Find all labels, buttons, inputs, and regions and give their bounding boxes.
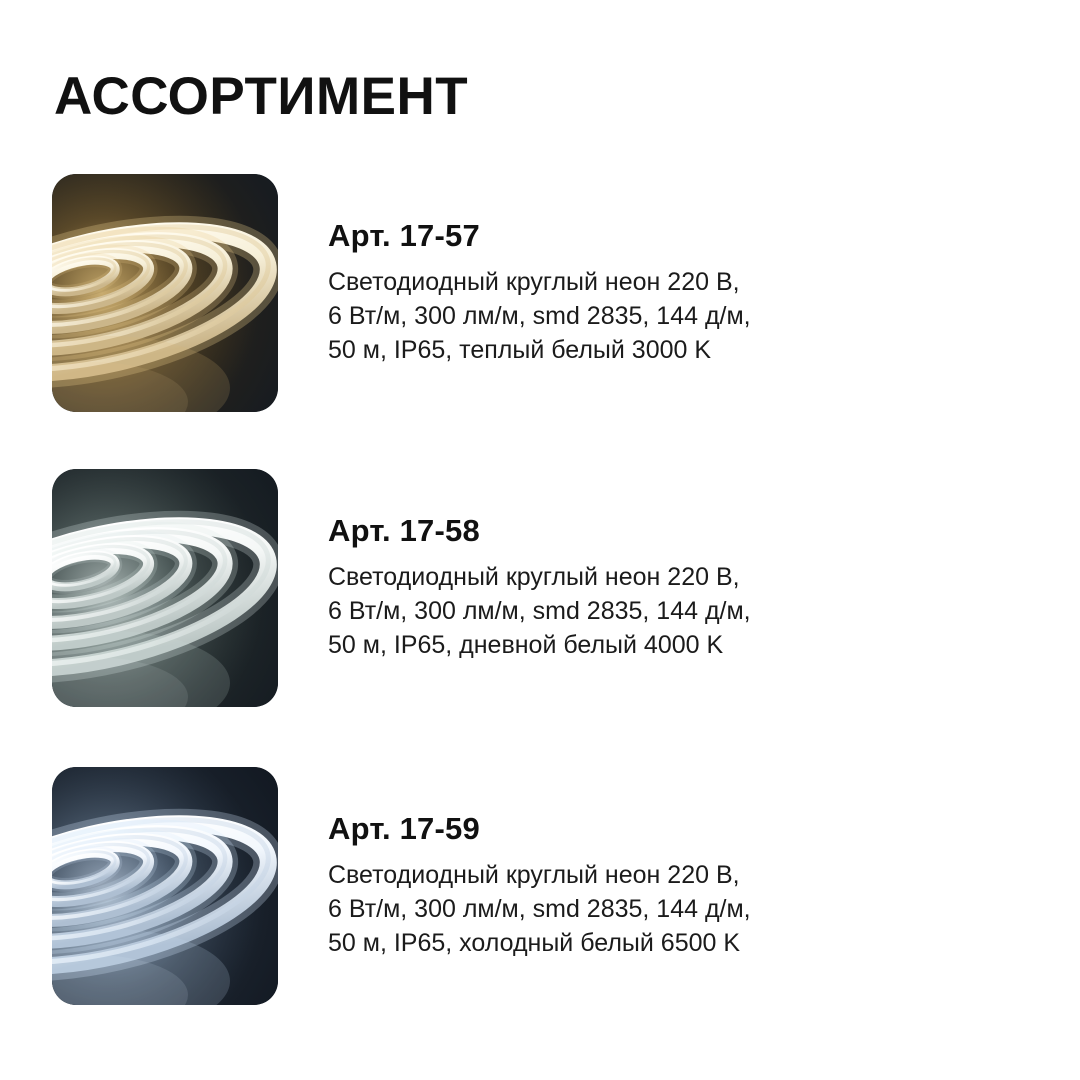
product-article: Арт. 17-59 [328,812,948,846]
description-line: 6 Вт/м, 300 лм/м, smd 2835, 144 д/м, [328,594,948,628]
product-row[interactable]: Арт. 17-59 Светодиодный круглый неон 220… [0,767,1080,1007]
description-line: 50 м, IP65, дневной белый 4000 K [328,628,948,662]
product-row[interactable]: Арт. 17-57 Светодиодный круглый неон 220… [0,174,1080,414]
description-line: Светодиодный круглый неон 220 В, [328,265,948,299]
description-line: 50 м, IP65, холодный белый 6500 K [328,926,948,960]
product-article: Арт. 17-58 [328,514,948,548]
product-info: Арт. 17-57 Светодиодный круглый неон 220… [328,174,948,412]
description-line: 50 м, IP65, теплый белый 3000 K [328,333,948,367]
product-image-cool-white[interactable] [52,767,278,1005]
product-image-daylight-white[interactable] [52,469,278,707]
product-description: Светодиодный круглый неон 220 В, 6 Вт/м,… [328,858,948,960]
product-description: Светодиодный круглый неон 220 В, 6 Вт/м,… [328,560,948,662]
product-info: Арт. 17-59 Светодиодный круглый неон 220… [328,767,948,1005]
product-description: Светодиодный круглый неон 220 В, 6 Вт/м,… [328,265,948,367]
description-line: Светодиодный круглый неон 220 В, [328,858,948,892]
description-line: 6 Вт/м, 300 лм/м, smd 2835, 144 д/м, [328,299,948,333]
description-line: 6 Вт/м, 300 лм/м, smd 2835, 144 д/м, [328,892,948,926]
description-line: Светодиодный круглый неон 220 В, [328,560,948,594]
catalog-page: АССОРТИМЕНТ [0,0,1080,1080]
product-image-warm-white[interactable] [52,174,278,412]
product-article: Арт. 17-57 [328,219,948,253]
page-title: АССОРТИМЕНТ [54,70,468,123]
product-info: Арт. 17-58 Светодиодный круглый неон 220… [328,469,948,707]
product-row[interactable]: Арт. 17-58 Светодиодный круглый неон 220… [0,469,1080,709]
